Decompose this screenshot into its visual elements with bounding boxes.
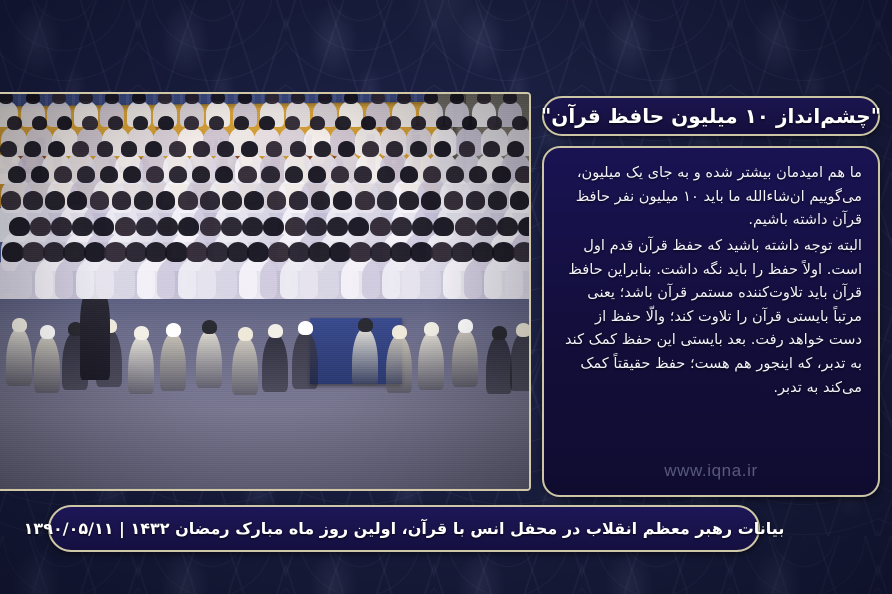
quote-paragraph-1: ما هم امیدمان بیشتر شده و به جای یک میلی…	[560, 161, 862, 232]
site-watermark: www.iqna.ir	[544, 461, 878, 481]
source-caption-text: بیانات رهبر معظم انقلاب در محفل انس با ق…	[24, 519, 785, 538]
quote-title-text: "چشم‌انداز ۱۰ میلیون حافظ قرآن"	[541, 104, 881, 128]
source-caption-pill: بیانات رهبر معظم انقلاب در محفل انس با ق…	[48, 505, 760, 552]
photo-vignette	[0, 94, 529, 489]
quote-paragraph-2: البته توجه داشته باشید که حفظ قرآن قدم ا…	[560, 234, 862, 399]
quote-body-panel: ما هم امیدمان بیشتر شده و به جای یک میلی…	[542, 146, 880, 497]
event-photograph: فاقرأوا ما تیسّر من القرآن	[0, 92, 531, 491]
quote-title-pill: "چشم‌انداز ۱۰ میلیون حافظ قرآن"	[542, 96, 880, 136]
poster-canvas: فاقرأوا ما تیسّر من القرآن "چشم‌انداز ۱۰…	[0, 0, 892, 594]
